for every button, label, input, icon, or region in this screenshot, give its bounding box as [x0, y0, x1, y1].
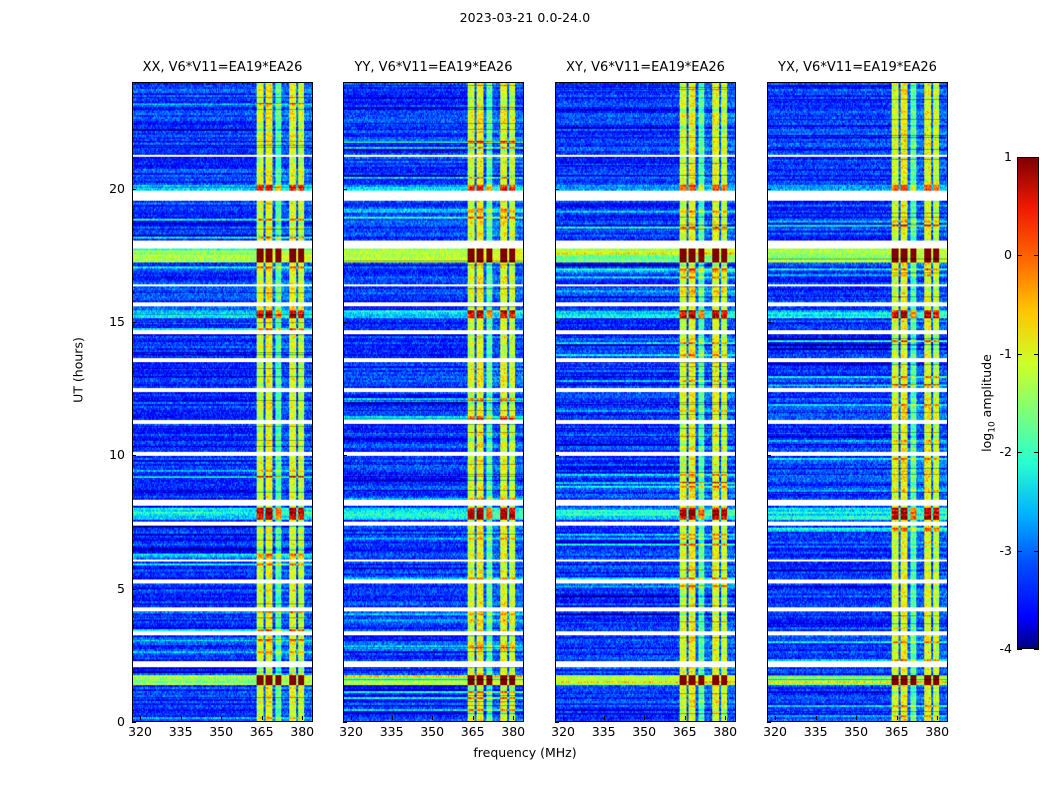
- x-tick-mark: [221, 716, 222, 720]
- colorbar-tick-mark: [1034, 157, 1039, 158]
- colorbar-tick-label: 1: [986, 149, 1012, 164]
- heatmap-panel-xx[interactable]: [132, 82, 313, 722]
- y-tick-mark: [767, 322, 771, 323]
- y-tick-mark: [132, 455, 136, 456]
- y-tick-label: 0: [99, 714, 125, 729]
- panel-title-xy: XY, V6*V11=EA19*EA26: [555, 60, 736, 78]
- colorbar-tick-mark: [1017, 354, 1022, 355]
- y-tick-mark: [767, 455, 771, 456]
- x-tick-mark: [432, 716, 433, 720]
- y-tick-mark: [343, 189, 347, 190]
- x-tick-label: 380: [705, 724, 745, 739]
- y-axis-title: UT (hours): [71, 337, 86, 403]
- y-tick-mark: [343, 589, 347, 590]
- y-tick-mark: [555, 722, 559, 723]
- x-tick-label: 365: [453, 724, 493, 739]
- y-tick-label: 10: [99, 447, 125, 462]
- colorbar-tick-mark: [1017, 452, 1022, 453]
- x-tick-mark: [473, 716, 474, 720]
- panel-title-yy: YY, V6*V11=EA19*EA26: [343, 60, 524, 78]
- y-tick-mark: [555, 322, 559, 323]
- x-tick-mark: [513, 716, 514, 720]
- x-tick-label: 320: [331, 724, 371, 739]
- x-tick-label: 380: [493, 724, 533, 739]
- colorbar-tick-mark: [1034, 255, 1039, 256]
- x-tick-mark: [644, 716, 645, 720]
- y-tick-mark: [767, 722, 771, 723]
- x-tick-label: 350: [201, 724, 241, 739]
- figure-root: 2023-03-21 0.0-24.0 XX, V6*V11=EA19*EA26…: [0, 0, 1050, 800]
- x-tick-mark: [392, 716, 393, 720]
- x-tick-mark: [351, 716, 352, 720]
- x-tick-mark: [775, 716, 776, 720]
- y-tick-mark: [555, 189, 559, 190]
- colorbar-title-sub: 10: [987, 421, 997, 432]
- y-tick-mark: [132, 589, 136, 590]
- x-tick-label: 335: [796, 724, 836, 739]
- y-tick-mark: [343, 455, 347, 456]
- x-tick-label: 335: [372, 724, 412, 739]
- y-tick-mark: [555, 455, 559, 456]
- x-tick-label: 335: [161, 724, 201, 739]
- y-tick-mark: [132, 722, 136, 723]
- heatmap-panel-yx[interactable]: [767, 82, 948, 722]
- x-tick-mark: [604, 716, 605, 720]
- y-tick-mark: [767, 589, 771, 590]
- colorbar-title-tail: amplitude: [979, 354, 994, 421]
- heatmap-canvas-xx: [133, 83, 312, 721]
- x-tick-label: 365: [242, 724, 282, 739]
- heatmap-canvas-yx: [768, 83, 947, 721]
- x-tick-mark: [181, 716, 182, 720]
- y-tick-mark: [343, 322, 347, 323]
- colorbar-tick-mark: [1017, 551, 1022, 552]
- colorbar-tick-mark: [1017, 255, 1022, 256]
- x-tick-mark: [262, 716, 263, 720]
- y-tick-label: 20: [99, 181, 125, 196]
- heatmap-canvas-yy: [344, 83, 523, 721]
- x-tick-label: 320: [755, 724, 795, 739]
- x-tick-mark: [856, 716, 857, 720]
- y-tick-mark: [767, 189, 771, 190]
- x-tick-label: 320: [120, 724, 160, 739]
- x-tick-mark: [140, 716, 141, 720]
- x-tick-label: 365: [665, 724, 705, 739]
- figure-suptitle: 2023-03-21 0.0-24.0: [0, 10, 1050, 25]
- colorbar-tick-label: 0: [986, 247, 1012, 262]
- colorbar-title-main: log: [979, 433, 994, 452]
- y-tick-mark: [555, 589, 559, 590]
- x-tick-mark: [563, 716, 564, 720]
- x-tick-label: 320: [543, 724, 583, 739]
- x-axis-title: frequency (MHz): [0, 745, 1050, 760]
- x-tick-label: 335: [584, 724, 624, 739]
- colorbar-tick-mark: [1034, 354, 1039, 355]
- panel-title-yx: YX, V6*V11=EA19*EA26: [767, 60, 948, 78]
- x-tick-label: 380: [917, 724, 957, 739]
- heatmap-panel-xy[interactable]: [555, 82, 736, 722]
- heatmap-panel-yy[interactable]: [343, 82, 524, 722]
- x-tick-mark: [816, 716, 817, 720]
- colorbar-tick-mark: [1017, 649, 1022, 650]
- x-tick-mark: [302, 716, 303, 720]
- colorbar-tick-mark: [1017, 157, 1022, 158]
- colorbar-tick-mark: [1034, 452, 1039, 453]
- x-tick-label: 350: [836, 724, 876, 739]
- colorbar-tick-label: -3: [986, 543, 1012, 558]
- y-tick-mark: [343, 722, 347, 723]
- x-tick-label: 350: [624, 724, 664, 739]
- x-tick-mark: [897, 716, 898, 720]
- x-tick-label: 350: [412, 724, 452, 739]
- y-tick-label: 5: [99, 581, 125, 596]
- x-tick-label: 365: [877, 724, 917, 739]
- y-tick-mark: [132, 189, 136, 190]
- colorbar-tick-mark: [1034, 551, 1039, 552]
- heatmap-canvas-xy: [556, 83, 735, 721]
- colorbar-tick-label: -4: [986, 641, 1012, 656]
- colorbar[interactable]: [1017, 157, 1039, 649]
- y-tick-label: 15: [99, 314, 125, 329]
- x-tick-label: 380: [282, 724, 322, 739]
- panel-title-xx: XX, V6*V11=EA19*EA26: [132, 60, 313, 78]
- x-tick-mark: [685, 716, 686, 720]
- x-tick-mark: [937, 716, 938, 720]
- y-tick-mark: [132, 322, 136, 323]
- x-tick-mark: [725, 716, 726, 720]
- colorbar-title: log10 amplitude: [979, 354, 998, 452]
- colorbar-tick-mark: [1034, 649, 1039, 650]
